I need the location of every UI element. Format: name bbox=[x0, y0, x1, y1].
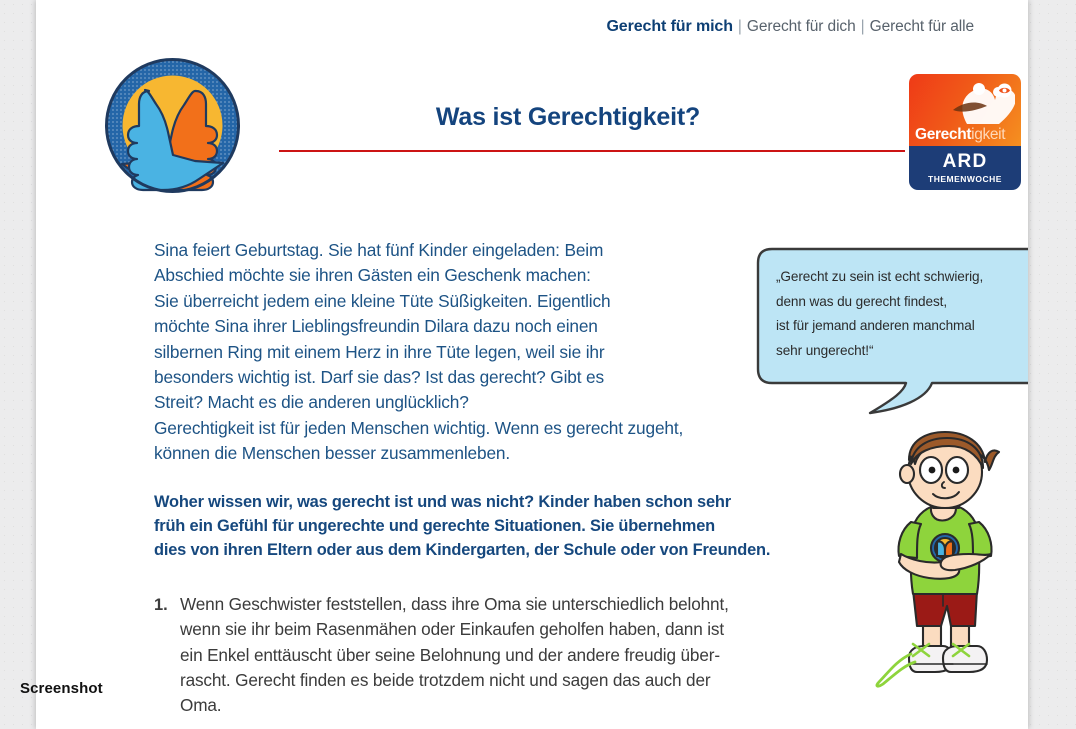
list-line: rascht. Gerecht finden es beide trotzdem… bbox=[180, 668, 729, 693]
intro-line: Streit? Macht es die anderen unglücklich… bbox=[154, 390, 684, 415]
document-page: Gerecht für mich|Gerecht für dich|Gerech… bbox=[36, 0, 1028, 729]
page-title: Was ist Gerechtigkeit? bbox=[241, 104, 875, 132]
intro-line: besonders wichtig ist. Darf sie das? Ist… bbox=[154, 365, 684, 390]
intro-line: können die Menschen besser zusammenleben… bbox=[154, 441, 684, 466]
highlight-paragraph: Woher wissen wir, was gerecht ist und wa… bbox=[154, 490, 854, 562]
highlight-line: dies von ihren Eltern oder aus dem Kinde… bbox=[154, 538, 854, 562]
ard-badge-wordmark: Gerechtigkeit bbox=[915, 127, 1005, 143]
title-block: Was ist Gerechtigkeit? bbox=[241, 104, 875, 132]
list-item-text: Wenn Geschwister feststellen, dass ihre … bbox=[180, 592, 729, 718]
kicker-item-dich[interactable]: Gerecht für dich bbox=[747, 18, 856, 35]
thinking-boy-cartoon bbox=[865, 430, 1025, 692]
intro-line: silbernen Ring mit einem Herz in ihre Tü… bbox=[154, 340, 684, 365]
highlight-line: früh ein Gefühl für ungerechte und gerec… bbox=[154, 514, 854, 538]
ard-subtitle-label: THEMENWOCHE bbox=[909, 171, 1021, 184]
highlight-line: Woher wissen wir, was gerecht ist und wa… bbox=[154, 490, 854, 514]
title-underline-rule bbox=[279, 150, 905, 152]
kicker-item-alle[interactable]: Gerecht für alle bbox=[870, 18, 974, 35]
ard-badge-top: Gerechtigkeit bbox=[909, 74, 1021, 146]
speech-line: ist für jemand anderen manchmal bbox=[776, 314, 1026, 339]
list-line: ein Enkel enttäuscht über seine Belohnun… bbox=[180, 643, 729, 668]
intro-line: Abschied möchte sie ihren Gästen ein Ges… bbox=[154, 263, 684, 288]
numbered-list: 1. Wenn Geschwister feststellen, dass ih… bbox=[154, 592, 854, 718]
intro-line: Sie überreicht jedem eine kleine Tüte Sü… bbox=[154, 289, 684, 314]
speech-line: denn was du gerecht findest, bbox=[776, 290, 1026, 315]
intro-paragraph: Sina feiert Geburtstag. Sie hat fünf Kin… bbox=[154, 238, 684, 467]
list-line: Oma. bbox=[180, 693, 729, 718]
kicker-separator-1: | bbox=[738, 18, 742, 35]
list-line: Wenn Geschwister feststellen, dass ihre … bbox=[180, 592, 729, 617]
intro-line: möchte Sina ihrer Lieblingsfreundin Dila… bbox=[154, 314, 684, 339]
list-item-marker: 1. bbox=[154, 592, 180, 618]
ard-word-light: igkeit bbox=[971, 126, 1005, 143]
intro-line: Sina feiert Geburtstag. Sie hat fünf Kin… bbox=[154, 238, 684, 263]
intro-line: Gerechtigkeit ist für jeden Menschen wic… bbox=[154, 416, 684, 441]
kicker-item-active[interactable]: Gerecht für mich bbox=[606, 18, 732, 35]
ard-badge-bottom: ARD THEMENWOCHE bbox=[909, 146, 1021, 190]
speech-line: „Gerecht zu sein ist echt schwierig, bbox=[776, 265, 1026, 290]
speech-bubble: „Gerecht zu sein ist echt schwierig, den… bbox=[754, 247, 1028, 415]
list-item: 1. Wenn Geschwister feststellen, dass ih… bbox=[154, 592, 854, 718]
speech-line: sehr ungerecht!“ bbox=[776, 339, 1026, 364]
two-thumbs-up-circle-logo bbox=[104, 57, 241, 194]
header-kicker: Gerecht für mich|Gerecht für dich|Gerech… bbox=[606, 19, 974, 35]
ard-name-label: ARD bbox=[909, 146, 1021, 171]
screenshot-caption: Screenshot bbox=[20, 680, 103, 697]
ard-eye-icon bbox=[997, 83, 1012, 98]
speech-bubble-text: „Gerecht zu sein ist echt schwierig, den… bbox=[776, 265, 1026, 363]
kicker-separator-2: | bbox=[861, 18, 865, 35]
ard-themenwoche-badge[interactable]: Gerechtigkeit ARD THEMENWOCHE bbox=[909, 74, 1021, 190]
ard-word-bold: Gerecht bbox=[915, 126, 971, 143]
list-line: wenn sie ihr beim Rasenmähen oder Einkau… bbox=[180, 617, 729, 642]
